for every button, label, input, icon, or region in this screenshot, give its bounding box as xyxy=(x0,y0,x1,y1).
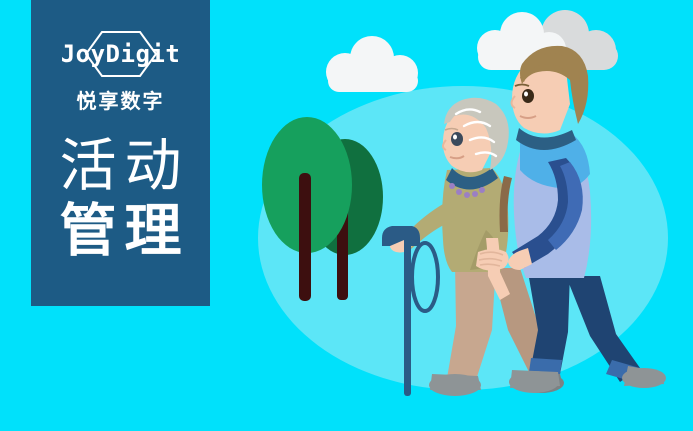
logo-chinese-name: 悦享数字 xyxy=(31,85,210,114)
cane-shaft xyxy=(404,238,411,396)
poster-canvas: JoyDigit 悦享数字 活动 管理 xyxy=(0,0,693,431)
page-title: 活动 管理 xyxy=(31,134,210,264)
logo-wordmark: JoyDigit xyxy=(56,30,186,78)
brand-logo: JoyDigit 悦享数字 xyxy=(31,30,210,114)
youth-eye xyxy=(522,89,534,103)
page-title-line2: 管理 xyxy=(31,198,210,264)
title-panel: JoyDigit 悦享数字 活动 管理 xyxy=(31,0,210,306)
elder-eye xyxy=(451,132,463,146)
page-title-line1: 活动 xyxy=(31,134,210,198)
logo-mark: JoyDigit xyxy=(56,30,186,78)
